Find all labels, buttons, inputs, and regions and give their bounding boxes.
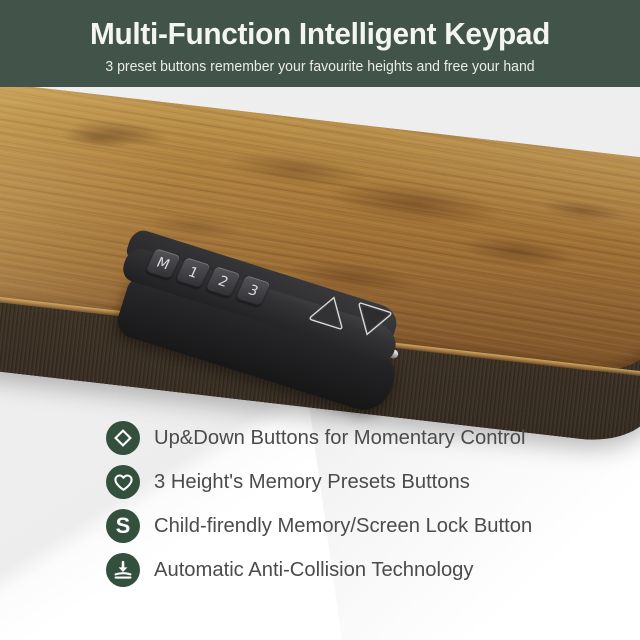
feature-label: 3 Height's Memory Presets Buttons: [154, 469, 470, 495]
diamond-icon: [106, 421, 140, 455]
page-subtitle: 3 preset buttons remember your favourite…: [10, 58, 631, 77]
feature-list: Up&Down Buttons for Momentary Control 3 …: [0, 416, 640, 592]
feature-label: Automatic Anti-Collision Technology: [154, 557, 474, 583]
feature-item: Automatic Anti-Collision Technology: [0, 548, 640, 592]
page-title: Multi-Function Intelligent Keypad: [13, 15, 627, 53]
heart-icon: [106, 465, 140, 499]
anti-collision-icon: [106, 553, 140, 587]
letter-s-glyph: S: [116, 515, 131, 537]
keypad-device: M 1 2 3: [128, 243, 424, 388]
feature-item: S Child-firendly Memory/Screen Lock Butt…: [0, 504, 640, 548]
product-feature-banner: Multi-Function Intelligent Keypad 3 pres…: [0, 0, 640, 640]
feature-item: 3 Height's Memory Presets Buttons: [0, 460, 640, 504]
letter-s-icon: S: [106, 509, 140, 543]
feature-label: Up&Down Buttons for Momentary Control: [154, 425, 525, 451]
feature-label: Child-firendly Memory/Screen Lock Button: [154, 513, 532, 539]
feature-item: Up&Down Buttons for Momentary Control: [0, 416, 640, 460]
header-banner: Multi-Function Intelligent Keypad 3 pres…: [0, 0, 640, 87]
